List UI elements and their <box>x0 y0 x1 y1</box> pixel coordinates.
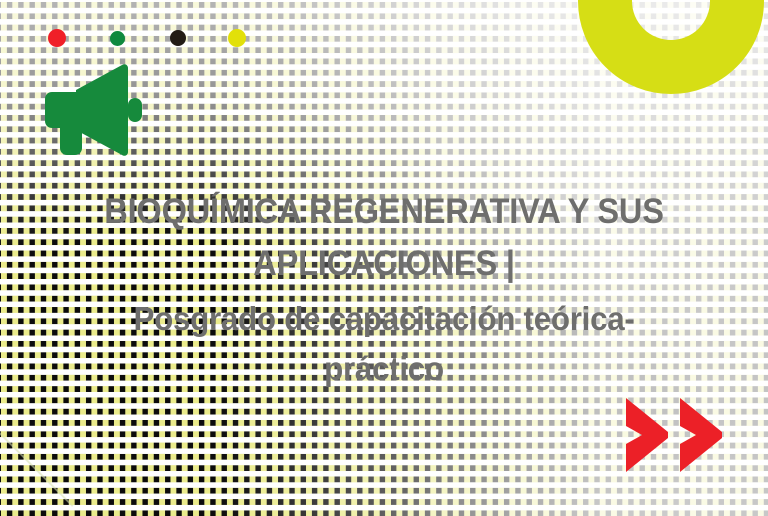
page-subtitle: Posgrado de capacitación teórica- prácti… <box>52 294 717 394</box>
poster-canvas: BIOQUÍMICA REGENERATIVA Y SUS APLICACION… <box>0 0 768 516</box>
double-chevron-right-icon <box>624 398 728 472</box>
dot-red <box>48 29 66 47</box>
dot-black <box>170 30 186 46</box>
page-title: BIOQUÍMICA REGENERATIVA Y SUS APLICACION… <box>59 186 710 290</box>
dot-green <box>110 31 125 46</box>
ring-circle-shape <box>578 0 764 94</box>
color-dots-row <box>48 29 248 49</box>
text-block: BIOQUÍMICA REGENERATIVA Y SUS APLICACION… <box>34 186 734 394</box>
megaphone-icon <box>42 62 146 158</box>
corner-accent-line <box>0 398 73 516</box>
dot-yellow <box>228 29 246 47</box>
